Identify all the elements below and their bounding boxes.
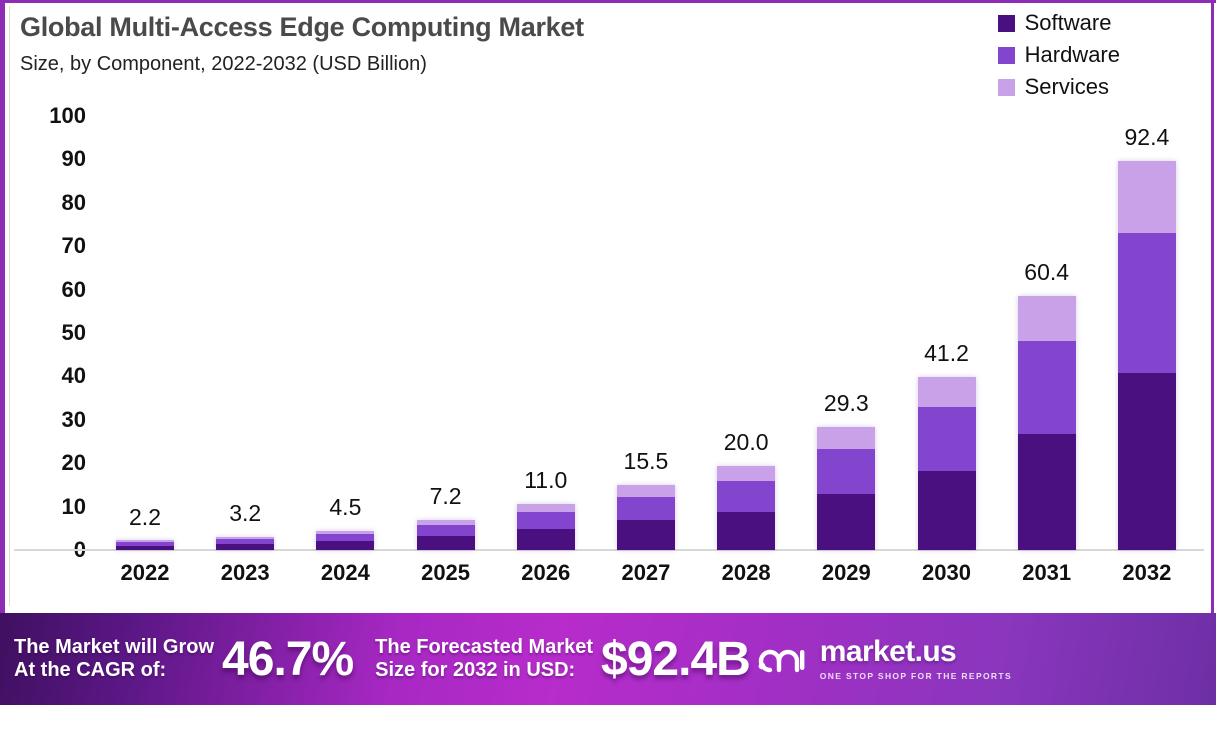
bar-segment-services[interactable] (1118, 161, 1176, 233)
infographic-root: Global Multi-Access Edge Computing Marke… (0, 0, 1216, 740)
bar-segment-services[interactable] (1018, 296, 1076, 341)
market-us-logomark-icon (756, 640, 810, 678)
bar-segment-software[interactable] (517, 529, 575, 550)
bar-segment-software[interactable] (116, 546, 174, 550)
bar-column-2029[interactable]: 29.3 (797, 120, 895, 550)
x-axis-tick-2032: 2032 (1098, 560, 1196, 586)
bar-value-label: 41.2 (924, 340, 969, 367)
forecast-value: $92.4B (601, 632, 750, 687)
bar-stack[interactable] (1118, 161, 1176, 550)
y-axis-tick: 40 (24, 363, 86, 389)
bar-value-label: 7.2 (430, 483, 462, 510)
brand-text-block: market.us ONE STOP SHOP FOR THE REPORTS (820, 637, 1012, 681)
x-axis-tick-2031: 2031 (998, 560, 1096, 586)
y-axis-tick: 50 (24, 320, 86, 346)
cagr-caption-line2: At the CAGR of: (14, 659, 214, 682)
bar-segment-services[interactable] (817, 427, 875, 449)
bar-column-2028[interactable]: 20.0 (697, 120, 795, 550)
bar-stack[interactable] (517, 504, 575, 550)
bar-segment-services[interactable] (617, 485, 675, 497)
forecast-caption-line1: The Forecasted Market (375, 636, 593, 659)
bar-column-2025[interactable]: 7.2 (397, 120, 495, 550)
bar-segment-software[interactable] (216, 544, 274, 550)
x-axis-tick-2029: 2029 (797, 560, 895, 586)
brand-name: market.us (820, 637, 1012, 667)
bar-segment-software[interactable] (1018, 434, 1076, 550)
bar-stack[interactable] (817, 427, 875, 550)
bar-segment-hardware[interactable] (918, 407, 976, 471)
bar-value-label: 29.3 (824, 390, 869, 417)
y-axis-tick: 20 (24, 450, 86, 476)
bar-stack[interactable] (617, 485, 675, 550)
forecast-block: The Forecasted Market Size for 2032 in U… (375, 632, 750, 687)
x-axis: 2022202320242025202620272028202920302031… (96, 560, 1196, 586)
brand-tagline: ONE STOP SHOP FOR THE REPORTS (820, 671, 1012, 681)
y-axis-tick: 80 (24, 190, 86, 216)
bar-segment-hardware[interactable] (817, 449, 875, 494)
bar-segment-services[interactable] (517, 504, 575, 512)
footer-strip (0, 705, 1216, 740)
summary-banner: The Market will Grow At the CAGR of: 46.… (0, 613, 1216, 705)
bar-segment-software[interactable] (817, 494, 875, 550)
cagr-value: 46.7% (222, 632, 353, 687)
x-axis-tick-2026: 2026 (497, 560, 595, 586)
bar-segment-hardware[interactable] (1018, 341, 1076, 434)
bar-stack[interactable] (116, 540, 174, 550)
bar-segment-software[interactable] (1118, 373, 1176, 550)
bar-segment-services[interactable] (717, 466, 775, 481)
bar-segment-software[interactable] (717, 512, 775, 550)
bar-value-label: 3.2 (229, 500, 261, 527)
bar-column-2024[interactable]: 4.5 (296, 120, 394, 550)
bar-value-label: 60.4 (1024, 259, 1069, 286)
bar-column-2030[interactable]: 41.2 (898, 120, 996, 550)
bar-segment-services[interactable] (918, 377, 976, 408)
bar-stack[interactable] (717, 466, 775, 550)
bar-stack[interactable] (918, 377, 976, 550)
bar-value-label: 4.5 (329, 494, 361, 521)
forecast-caption: The Forecasted Market Size for 2032 in U… (375, 636, 593, 682)
bar-segment-hardware[interactable] (517, 512, 575, 529)
cagr-caption-line1: The Market will Grow (14, 636, 214, 659)
bar-segment-hardware[interactable] (1118, 233, 1176, 373)
x-axis-tick-2025: 2025 (397, 560, 495, 586)
cagr-block: The Market will Grow At the CAGR of: 46.… (14, 632, 353, 687)
bar-stack[interactable] (1018, 296, 1076, 550)
bar-column-2032[interactable]: 92.4 (1098, 120, 1196, 550)
x-axis-tick-2024: 2024 (296, 560, 394, 586)
bar-group: 2.23.24.57.211.015.520.029.341.260.492.4 (96, 120, 1196, 550)
bar-segment-software[interactable] (417, 536, 475, 550)
x-axis-tick-2023: 2023 (196, 560, 294, 586)
brand-logo[interactable]: market.us ONE STOP SHOP FOR THE REPORTS (756, 637, 1012, 681)
cagr-caption: The Market will Grow At the CAGR of: (14, 636, 214, 682)
bar-segment-hardware[interactable] (617, 497, 675, 521)
x-axis-tick-2022: 2022 (96, 560, 194, 586)
bar-column-2022[interactable]: 2.2 (96, 120, 194, 550)
x-axis-tick-2027: 2027 (597, 560, 695, 586)
forecast-caption-line2: Size for 2032 in USD: (375, 659, 593, 682)
bar-column-2023[interactable]: 3.2 (196, 120, 294, 550)
bar-stack[interactable] (216, 537, 274, 550)
y-axis-tick: 60 (24, 277, 86, 303)
y-axis-tick: 30 (24, 407, 86, 433)
bar-stack[interactable] (316, 531, 374, 550)
y-axis-tick: 90 (24, 146, 86, 172)
y-axis-tick: 10 (24, 494, 86, 520)
y-axis: 1009080706050403020100 (24, 116, 86, 550)
chart-plot-area: 1009080706050403020100 2.23.24.57.211.01… (0, 0, 1216, 613)
bar-column-2027[interactable]: 15.5 (597, 120, 695, 550)
bar-value-label: 11.0 (524, 467, 567, 494)
bar-segment-software[interactable] (918, 471, 976, 550)
bar-value-label: 15.5 (624, 448, 669, 475)
bar-segment-hardware[interactable] (717, 481, 775, 512)
x-axis-tick-2028: 2028 (697, 560, 795, 586)
x-axis-tick-2030: 2030 (898, 560, 996, 586)
bar-segment-software[interactable] (316, 541, 374, 550)
y-axis-tick: 70 (24, 233, 86, 259)
bar-segment-software[interactable] (617, 520, 675, 550)
bar-stack[interactable] (417, 520, 475, 550)
bar-value-label: 20.0 (724, 429, 769, 456)
bar-segment-hardware[interactable] (316, 534, 374, 541)
bar-value-label: 92.4 (1124, 124, 1169, 151)
bar-column-2026[interactable]: 11.0 (497, 120, 595, 550)
bar-column-2031[interactable]: 60.4 (998, 120, 1096, 550)
bar-segment-hardware[interactable] (417, 525, 475, 536)
y-axis-tick: 100 (24, 103, 86, 129)
bar-value-label: 2.2 (129, 504, 161, 531)
